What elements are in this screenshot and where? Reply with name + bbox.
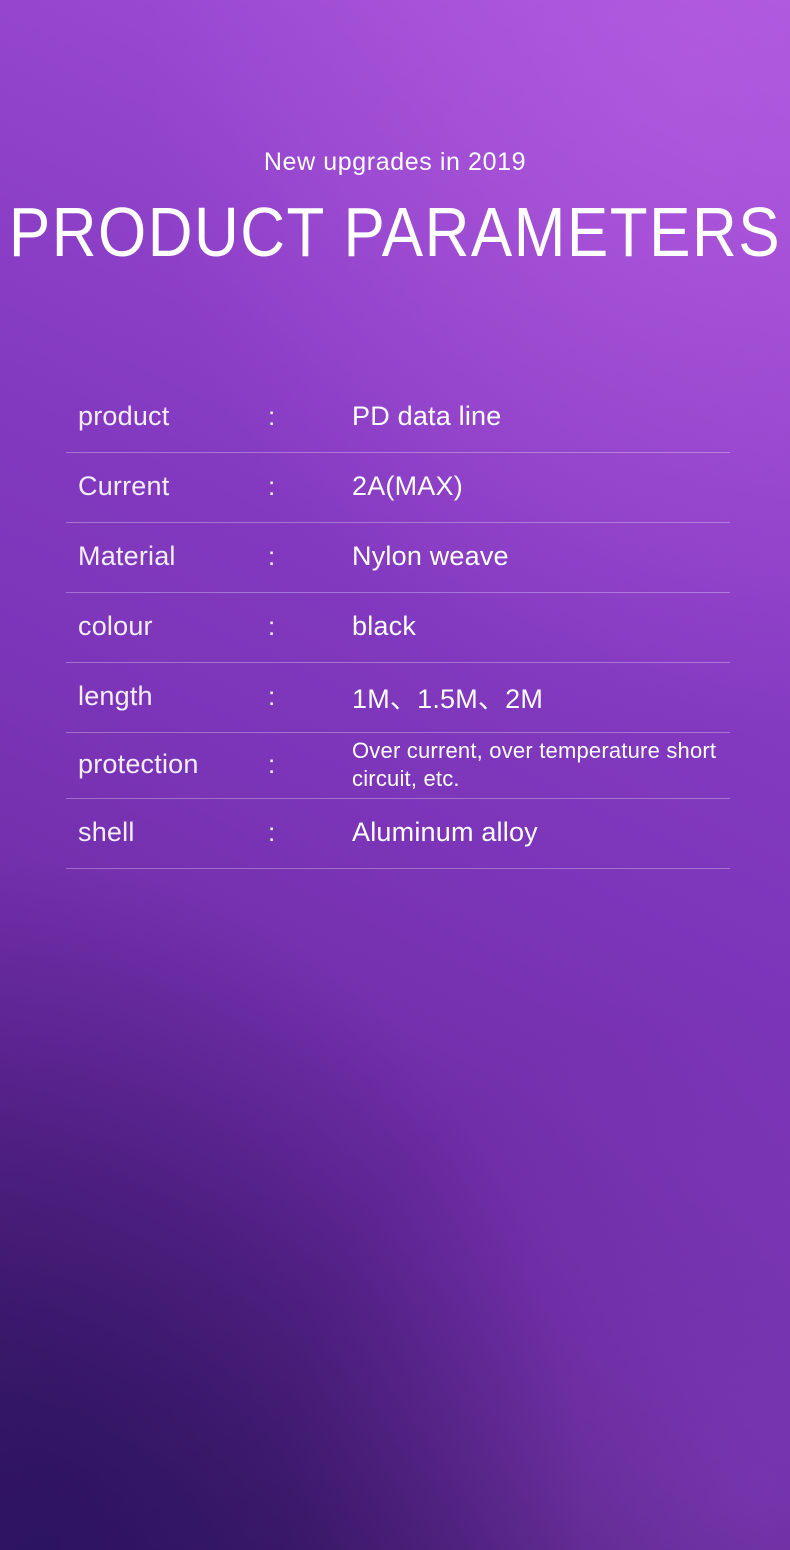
spec-row-length: length : 1M、1.5M、2M [66,663,730,733]
page-title: PRODUCT PARAMETERS [0,199,790,268]
spec-row-protection: protection : Over current, over temperat… [66,733,730,799]
spec-row-material: Material : Nylon weave [66,523,730,593]
page-header: New upgrades in 2019 PRODUCT PARAMETERS [0,0,790,261]
spec-label: protection [66,749,268,780]
spec-label: length [66,681,268,712]
spec-separator: : [268,817,352,848]
spec-value: black [352,611,730,642]
spec-separator: : [268,541,352,572]
spec-separator: : [268,749,352,780]
spec-value: 1M、1.5M、2M [352,677,730,716]
spec-separator: : [268,471,352,502]
spec-row-current: Current : 2A(MAX) [66,453,730,523]
spec-label: colour [66,611,268,642]
spec-value: PD data line [352,401,730,432]
product-parameters-page: New upgrades in 2019 PRODUCT PARAMETERS … [0,0,790,1550]
spec-row-colour: colour : black [66,593,730,663]
spec-value: Over current, over temperature short cir… [352,737,730,792]
spec-separator: : [268,681,352,712]
spec-label: product [66,401,268,432]
spec-label: Material [66,541,268,572]
spec-row-product: product : PD data line [66,383,730,453]
spec-label: shell [66,817,268,848]
spec-separator: : [268,611,352,642]
spec-value: Nylon weave [352,541,730,572]
spec-table: product : PD data line Current : 2A(MAX)… [66,383,730,869]
product-image [0,960,790,1550]
spec-label: Current [66,471,268,502]
spec-value: Aluminum alloy [352,817,730,848]
spec-separator: : [268,401,352,432]
spec-value: 2A(MAX) [352,471,730,502]
subtitle: New upgrades in 2019 [0,150,790,175]
spec-row-shell: shell : Aluminum alloy [66,799,730,869]
